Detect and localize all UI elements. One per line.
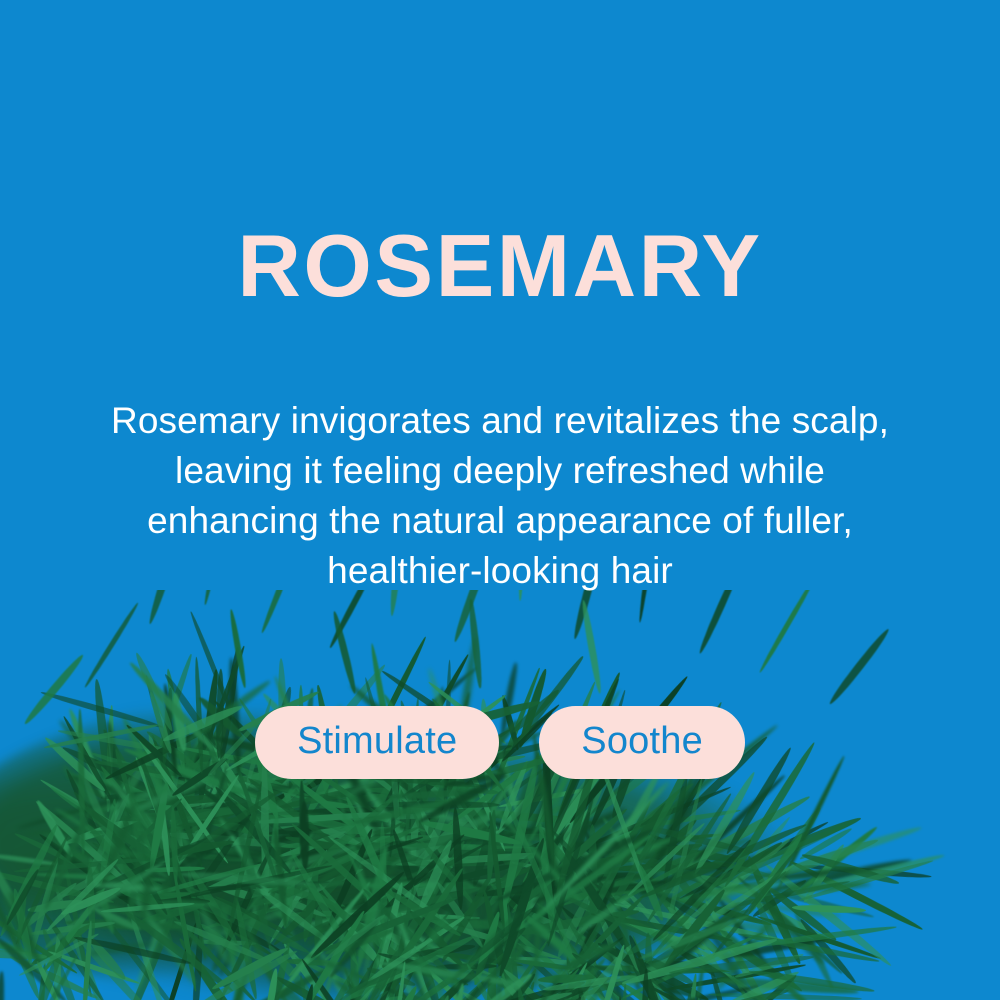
benefit-pill-row: Stimulate Soothe (0, 706, 1000, 779)
description-line: healthier-looking hair (50, 546, 950, 596)
benefit-pill-stimulate[interactable]: Stimulate (255, 706, 499, 779)
description-text: Rosemary invigorates and revitalizes the… (50, 396, 950, 596)
benefit-pill-soothe[interactable]: Soothe (539, 706, 745, 779)
description-line: enhancing the natural appearance of full… (50, 496, 950, 546)
rosemary-ingredient-card: ROSEMARY Rosemary invigorates and revita… (0, 0, 1000, 1000)
page-title: ROSEMARY (0, 222, 1000, 310)
rosemary-sprigs-image (0, 590, 1000, 1000)
description-line: leaving it feeling deeply refreshed whil… (50, 446, 950, 496)
rosemary-needle-layer (0, 590, 1000, 1000)
description-line: Rosemary invigorates and revitalizes the… (50, 396, 950, 446)
